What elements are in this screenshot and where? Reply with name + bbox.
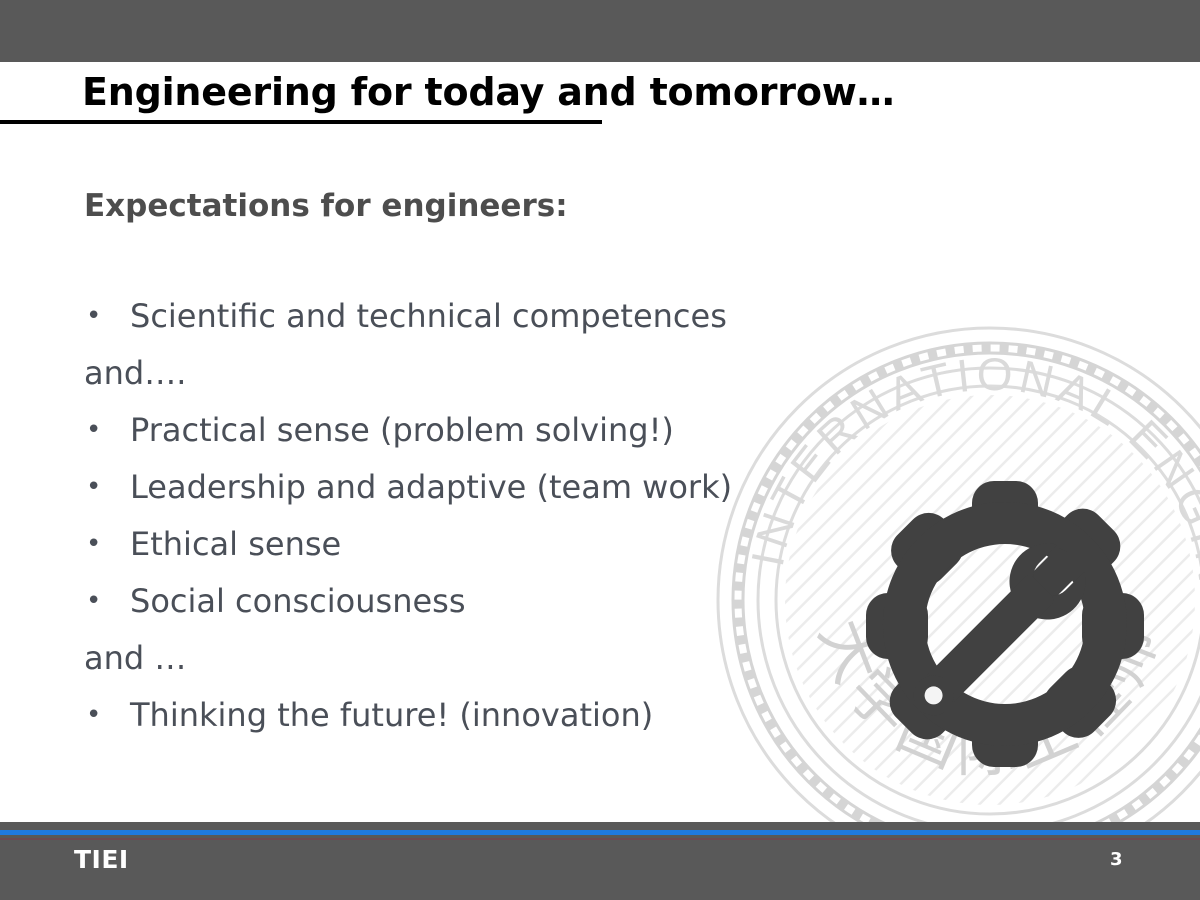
slide-canvas: TIANJIN INTERNATIONAL ENGINEERING 天津大学国际… <box>0 0 1200 900</box>
bullet-item: Leadership and adaptive (team work) <box>84 459 964 516</box>
bullet-item: Social consciousness <box>84 573 964 630</box>
bullet-item: Ethical sense <box>84 516 964 573</box>
continuation-line: and … <box>84 630 964 687</box>
bullet-list: Scientific and technical competencesand…… <box>84 288 964 744</box>
continuation-line: and…. <box>84 345 964 402</box>
footer-label: TIEI <box>74 845 129 874</box>
footer-accent-blue-rule <box>0 830 1200 835</box>
subheading: Expectations for engineers: <box>84 188 568 224</box>
bullet-item: Practical sense (problem solving!) <box>84 402 964 459</box>
footer-accent-maroon-rule <box>0 838 1200 840</box>
page-title: Engineering for today and tomorrow… <box>82 70 894 114</box>
title-underline <box>0 120 602 124</box>
page-number: 3 <box>1110 849 1123 870</box>
top-band <box>0 0 1200 62</box>
bullet-item: Scientific and technical competences <box>84 288 964 345</box>
bullet-item: Thinking the future! (innovation) <box>84 687 964 744</box>
